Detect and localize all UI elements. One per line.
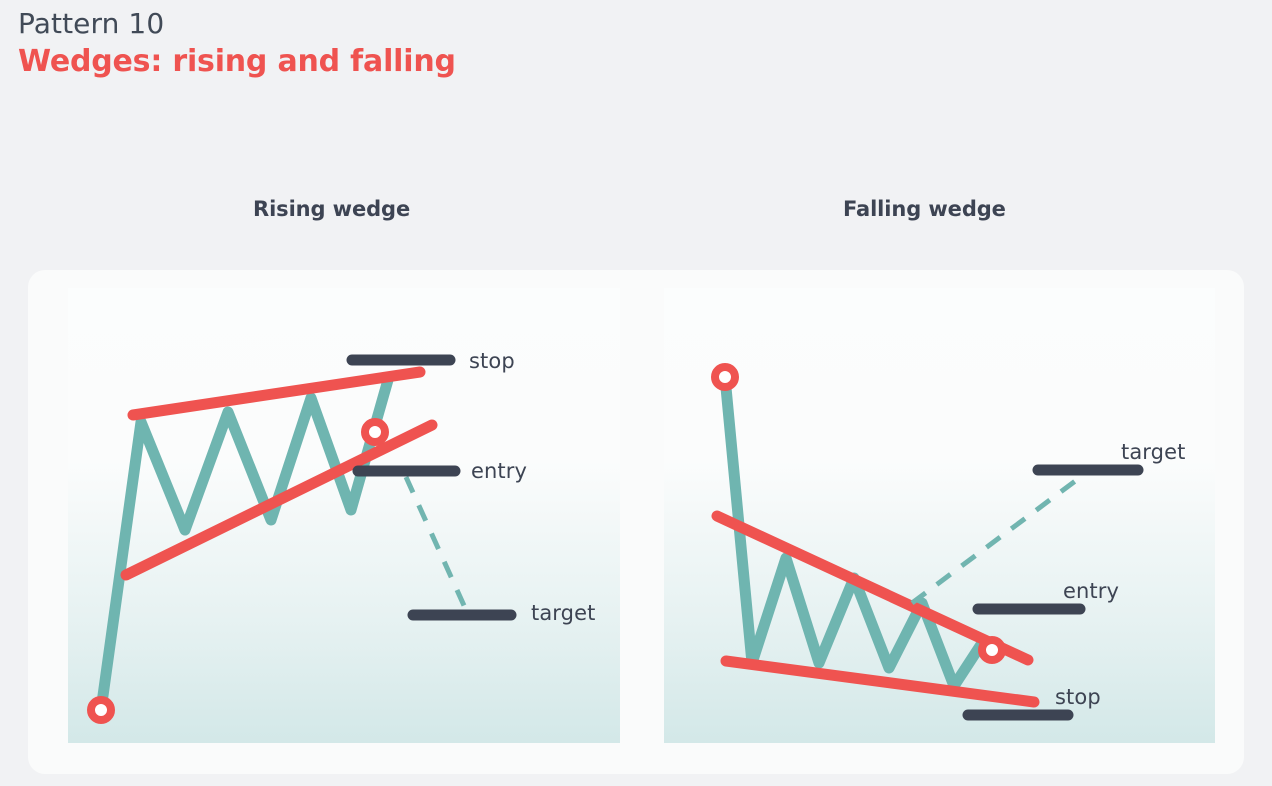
column-heading-rising-wedge: Rising wedge: [253, 197, 410, 221]
marker-pattern-start-rising: [91, 700, 111, 720]
level-label-target-falling: target: [1121, 440, 1185, 464]
marker-breakout-rising: [365, 422, 385, 442]
level-label-stop-rising: stop: [469, 349, 515, 373]
trendline-lower-falling: [726, 661, 1034, 702]
projection-line-falling: [912, 476, 1082, 603]
pattern-number-label: Pattern 10: [18, 6, 456, 41]
falling-wedge-group: [715, 367, 1138, 715]
price-path-falling: [725, 377, 984, 686]
price-path-rising: [101, 380, 388, 710]
level-label-target-rising: target: [531, 601, 595, 625]
level-label-stop-falling: stop: [1055, 685, 1101, 709]
level-label-entry-falling: entry: [1063, 579, 1119, 603]
marker-pattern-start-falling: [715, 367, 735, 387]
projection-line-rising: [406, 477, 466, 610]
page-title: Wedges: rising and falling: [18, 42, 456, 81]
page-header: Pattern 10 Wedges: rising and falling: [18, 6, 456, 81]
marker-breakout-falling: [982, 640, 1002, 660]
rising-wedge-group: [91, 360, 511, 720]
column-heading-falling-wedge: Falling wedge: [843, 197, 1006, 221]
level-label-entry-rising: entry: [471, 459, 527, 483]
